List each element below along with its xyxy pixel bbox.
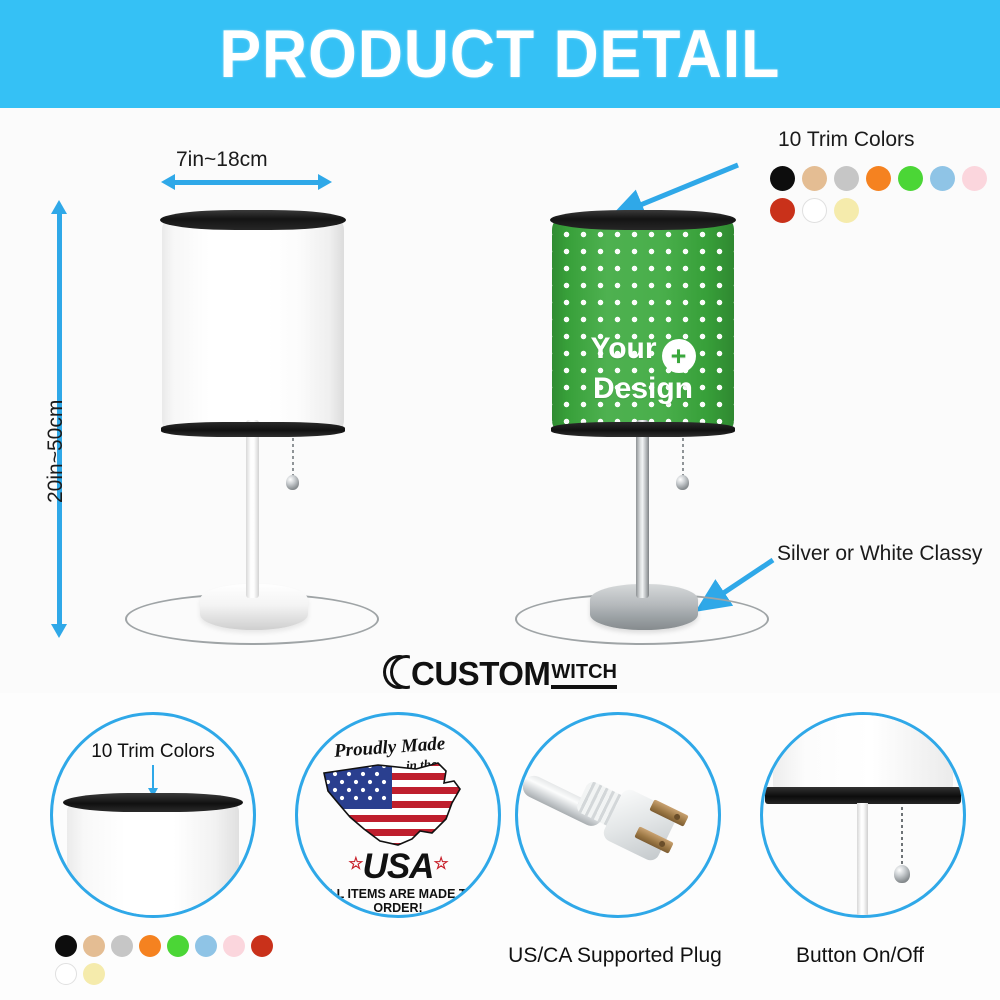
width-dimension-label: 7in~18cm <box>176 148 268 172</box>
design-placeholder-text: Your+ Design <box>552 333 734 405</box>
lamp-pole-white <box>246 420 259 598</box>
trim-swatch-light-blue[interactable] <box>195 935 217 957</box>
header-banner: PRODUCT DETAIL <box>0 0 1000 108</box>
feature-plug <box>515 712 721 918</box>
pull-chain-knob-white[interactable] <box>286 475 299 490</box>
add-design-icon[interactable]: + <box>662 339 696 373</box>
trim-swatch-light-blue[interactable] <box>930 166 955 191</box>
trim-swatch-red[interactable] <box>770 198 795 223</box>
product-stage: 7in~18cm 20in~50cm <box>0 108 1000 693</box>
design-text-line2: Design <box>552 373 734 405</box>
usa-star-right: ☆ <box>433 854 447 873</box>
feature-button-label: Button On/Off <box>755 944 965 968</box>
usa-flag-map-icon <box>320 759 478 851</box>
design-text-line1: Your <box>590 332 656 365</box>
usa-word: ☆USA☆ <box>298 847 498 887</box>
trim-swatch-light-gray[interactable] <box>111 935 133 957</box>
usa-word-text: USA <box>363 847 434 886</box>
trim-swatch-black[interactable] <box>55 935 77 957</box>
brand-logo: CUSTOM WITCH <box>0 655 1000 699</box>
shade-bottom-trim-green <box>551 422 735 437</box>
lampshade-custom: Your+ Design <box>552 220 734 430</box>
brand-witch-text: WITCH <box>551 661 617 683</box>
brand-c-icon <box>383 655 413 689</box>
trim-swatch-pink[interactable] <box>223 935 245 957</box>
trim-swatch-pink[interactable] <box>962 166 987 191</box>
height-dimension-label: 20in~50cm <box>44 400 68 503</box>
feature-plug-label: US/CA Supported Plug <box>500 944 730 968</box>
shade-top-trim-green <box>550 210 736 230</box>
feature-trim-colors: 10 Trim Colors <box>50 712 256 918</box>
trim-swatch-light-gray[interactable] <box>834 166 859 191</box>
brand-underline <box>551 685 617 689</box>
trim-colors-heading: 10 Trim Colors <box>778 128 915 152</box>
trim-swatch-white[interactable] <box>802 198 827 223</box>
feature-button-onoff <box>760 712 966 918</box>
lamp-white <box>140 198 360 638</box>
trim-swatch-white[interactable] <box>55 963 77 985</box>
trim-swatch-black[interactable] <box>770 166 795 191</box>
usa-subtitle: ALL ITEMS ARE MADE TO ORDER! <box>298 887 498 915</box>
trim-swatch-tan[interactable] <box>802 166 827 191</box>
trim-swatch-tan[interactable] <box>83 935 105 957</box>
feature-shade-bottom-trim <box>765 787 961 804</box>
shade-top-trim-white <box>160 210 346 230</box>
trim-colors-swatch-row-bottom <box>55 935 295 985</box>
trim-swatch-pale-yellow[interactable] <box>834 198 859 223</box>
pull-chain-knob-silver[interactable] <box>676 475 689 490</box>
feature-lamp-pole <box>857 803 868 915</box>
lampshade-white <box>162 220 344 430</box>
feature-made-in-usa: Proudly Made in the <box>295 712 501 918</box>
trim-swatch-orange[interactable] <box>866 166 891 191</box>
width-dimension-arrow <box>174 180 319 185</box>
feature-trim-colors-title: 10 Trim Colors <box>53 741 253 763</box>
trim-swatch-orange[interactable] <box>139 935 161 957</box>
feature-shade-surface <box>67 803 239 918</box>
lamp-pole-silver <box>636 420 649 598</box>
feature-shade-trim <box>63 793 243 812</box>
feature-pull-chain[interactable] <box>901 807 903 867</box>
base-finish-label: Silver or White Classy <box>777 542 982 566</box>
trim-swatch-green[interactable] <box>167 935 189 957</box>
shade-bottom-trim-white <box>161 422 345 437</box>
brand-custom-text: CUSTOM <box>411 658 550 689</box>
trim-swatch-pale-yellow[interactable] <box>83 963 105 985</box>
usa-star-left: ☆ <box>348 854 362 873</box>
trim-swatch-red[interactable] <box>251 935 273 957</box>
feature-shade-body <box>773 712 953 789</box>
lampshade-surface-white <box>162 220 344 430</box>
feature-pull-chain-knob[interactable] <box>894 865 910 883</box>
page-title: PRODUCT DETAIL <box>220 15 781 93</box>
feature-trim-colors-arrow <box>152 765 154 789</box>
trim-swatch-green[interactable] <box>898 166 923 191</box>
trim-colors-swatch-row-top <box>770 166 1000 223</box>
